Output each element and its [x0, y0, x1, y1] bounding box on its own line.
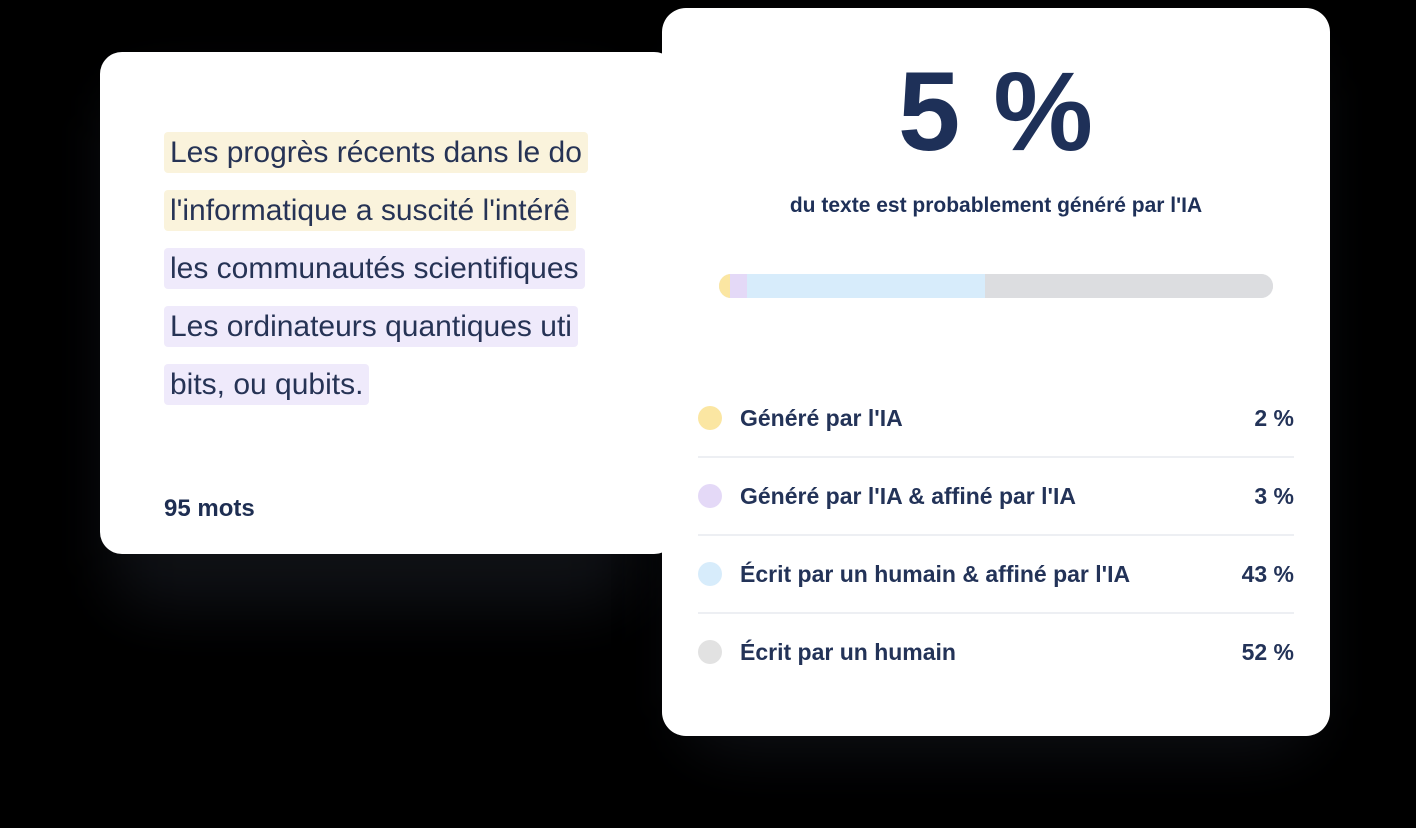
- bar-segment-human: [985, 274, 1273, 298]
- highlight-ai-refined: bits, ou qubits.: [164, 364, 369, 405]
- text-line: bits, ou qubits.: [164, 356, 676, 413]
- legend-value: 3 %: [1240, 483, 1294, 510]
- text-line: les communautés scientifiques: [164, 240, 676, 297]
- legend-row: Généré par l'IA 2 %: [698, 380, 1294, 458]
- text-line: Les ordinateurs quantiques uti: [164, 298, 676, 355]
- legend-row: Écrit par un humain 52 %: [698, 614, 1294, 690]
- legend-dot-icon: [698, 484, 722, 508]
- page-background: Les progrès récents dans le do l'informa…: [0, 0, 1416, 828]
- legend-value: 43 %: [1228, 561, 1294, 588]
- detection-legend: Généré par l'IA 2 % Généré par l'IA & af…: [698, 380, 1294, 690]
- detection-result-card: 5 % du texte est probablement généré par…: [662, 8, 1330, 736]
- analysed-text-body: Les progrès récents dans le do l'informa…: [164, 124, 676, 414]
- text-line: l'informatique a suscité l'intérê: [164, 182, 676, 239]
- legend-value: 52 %: [1228, 639, 1294, 666]
- legend-dot-icon: [698, 640, 722, 664]
- highlight-ai: l'informatique a suscité l'intérê: [164, 190, 576, 231]
- legend-value: 2 %: [1240, 405, 1294, 432]
- legend-dot-icon: [698, 406, 722, 430]
- legend-dot-icon: [698, 562, 722, 586]
- legend-label: Généré par l'IA: [740, 405, 903, 432]
- legend-row: Généré par l'IA & affiné par l'IA 3 %: [698, 458, 1294, 536]
- bar-segment-human-refined: [747, 274, 985, 298]
- score-subtitle: du texte est probablement généré par l'I…: [662, 194, 1330, 218]
- highlight-ai: Les progrès récents dans le do: [164, 132, 588, 173]
- score-percentage: 5 %: [662, 8, 1330, 168]
- bar-segment-ai: [719, 274, 730, 298]
- legend-row: Écrit par un humain & affiné par l'IA 43…: [698, 536, 1294, 614]
- bar-segment-ai-refined: [730, 274, 747, 298]
- highlight-ai-refined: les communautés scientifiques: [164, 248, 585, 289]
- highlight-ai-refined: Les ordinateurs quantiques uti: [164, 306, 578, 347]
- detection-progress-bar: [719, 274, 1273, 298]
- legend-label: Écrit par un humain & affiné par l'IA: [740, 561, 1130, 588]
- legend-label: Généré par l'IA & affiné par l'IA: [740, 483, 1076, 510]
- analysed-text-card: Les progrès récents dans le do l'informa…: [100, 52, 676, 554]
- text-line: Les progrès récents dans le do: [164, 124, 676, 181]
- word-count-label: 95 mots: [164, 495, 255, 523]
- legend-label: Écrit par un humain: [740, 639, 956, 666]
